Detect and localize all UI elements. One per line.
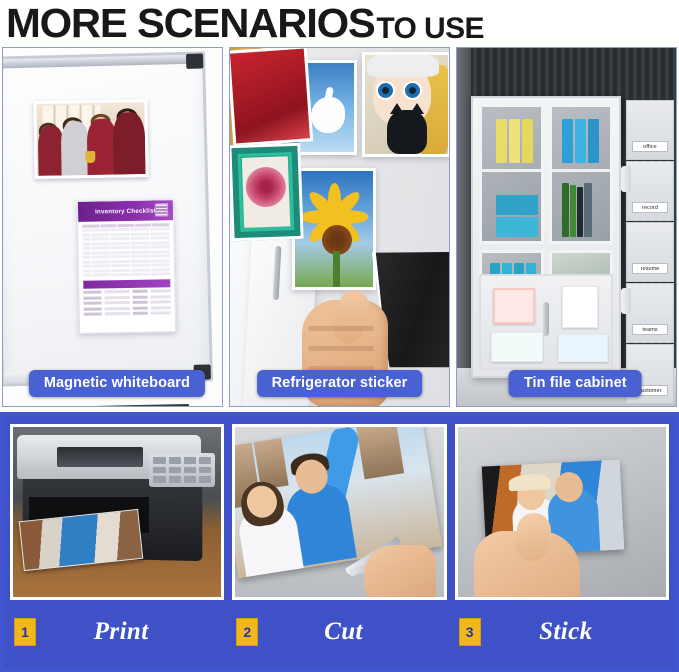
- checklist-title: Inventory Checklist: [95, 207, 156, 215]
- cabinet-drawer-stack: office record resume teams customer: [626, 100, 674, 400]
- scenario-row: Inventory Checklist: [0, 47, 679, 407]
- magnet-note-floral: [562, 286, 598, 328]
- magnet-note-pink: [493, 288, 535, 324]
- qr-code-icon: [155, 203, 168, 216]
- cabinet-lower-doors: [479, 274, 613, 370]
- drawer-label: teams: [632, 324, 668, 335]
- drawer-teams[interactable]: teams: [626, 283, 674, 343]
- rose-photo: [230, 143, 304, 241]
- scenario-card-cabinet[interactable]: office record resume teams customer Tin …: [456, 47, 677, 407]
- scenario-card-refrigerator[interactable]: Refrigerator sticker: [229, 47, 450, 407]
- step-label-cut: Cut: [258, 618, 428, 646]
- cutting-photo: [232, 424, 446, 600]
- team-photo: [33, 99, 148, 179]
- steps-row: 1 Print 2 Cut: [0, 412, 679, 672]
- title-main-text: MORE SCENARIOS: [6, 4, 375, 43]
- step-label-print: Print: [36, 618, 206, 646]
- drawer-label: record: [632, 202, 668, 213]
- drawer-resume[interactable]: resume: [626, 222, 674, 282]
- printer-photo: [10, 424, 224, 600]
- drawer-office[interactable]: office: [626, 100, 674, 160]
- whiteboard-scene-image: Inventory Checklist: [3, 48, 222, 406]
- step-number-badge: 3: [459, 618, 481, 646]
- step-card-stick[interactable]: 3 Stick: [455, 424, 669, 664]
- hand-placing-photo: [474, 531, 580, 600]
- sticking-photo: [455, 424, 669, 600]
- scissors-icon: [346, 515, 432, 593]
- tin-file-cabinet: [471, 96, 621, 378]
- scenario-label-whiteboard: Magnetic whiteboard: [29, 370, 205, 397]
- doll-photo: [362, 52, 449, 157]
- title-sub-text: TO USE: [376, 15, 484, 44]
- step-card-cut[interactable]: 2 Cut: [232, 424, 446, 664]
- step-number-badge: 1: [14, 618, 36, 646]
- red-flower-photo: [230, 48, 313, 147]
- step-card-print[interactable]: 1 Print: [10, 424, 224, 664]
- cabinet-scene-image: office record resume teams customer: [457, 48, 676, 406]
- page-title: MORE SCENARIOS TO USE: [0, 0, 679, 44]
- refrigerator-scene-image: [230, 48, 449, 406]
- magnet-note-teal: [491, 332, 543, 362]
- drawer-record[interactable]: record: [626, 161, 674, 221]
- scenario-label-refrigerator: Refrigerator sticker: [257, 370, 423, 397]
- sunflower-photo: [292, 168, 376, 290]
- scenario-card-whiteboard[interactable]: Inventory Checklist: [2, 47, 223, 407]
- step-number-badge: 2: [236, 618, 258, 646]
- step-label-stick: Stick: [481, 618, 651, 646]
- magnet-note-blue: [558, 334, 608, 362]
- inventory-checklist-document: Inventory Checklist: [77, 199, 176, 334]
- drawer-label: office: [632, 141, 668, 152]
- scenario-label-cabinet: Tin file cabinet: [509, 370, 642, 397]
- drawer-label: resume: [632, 263, 668, 274]
